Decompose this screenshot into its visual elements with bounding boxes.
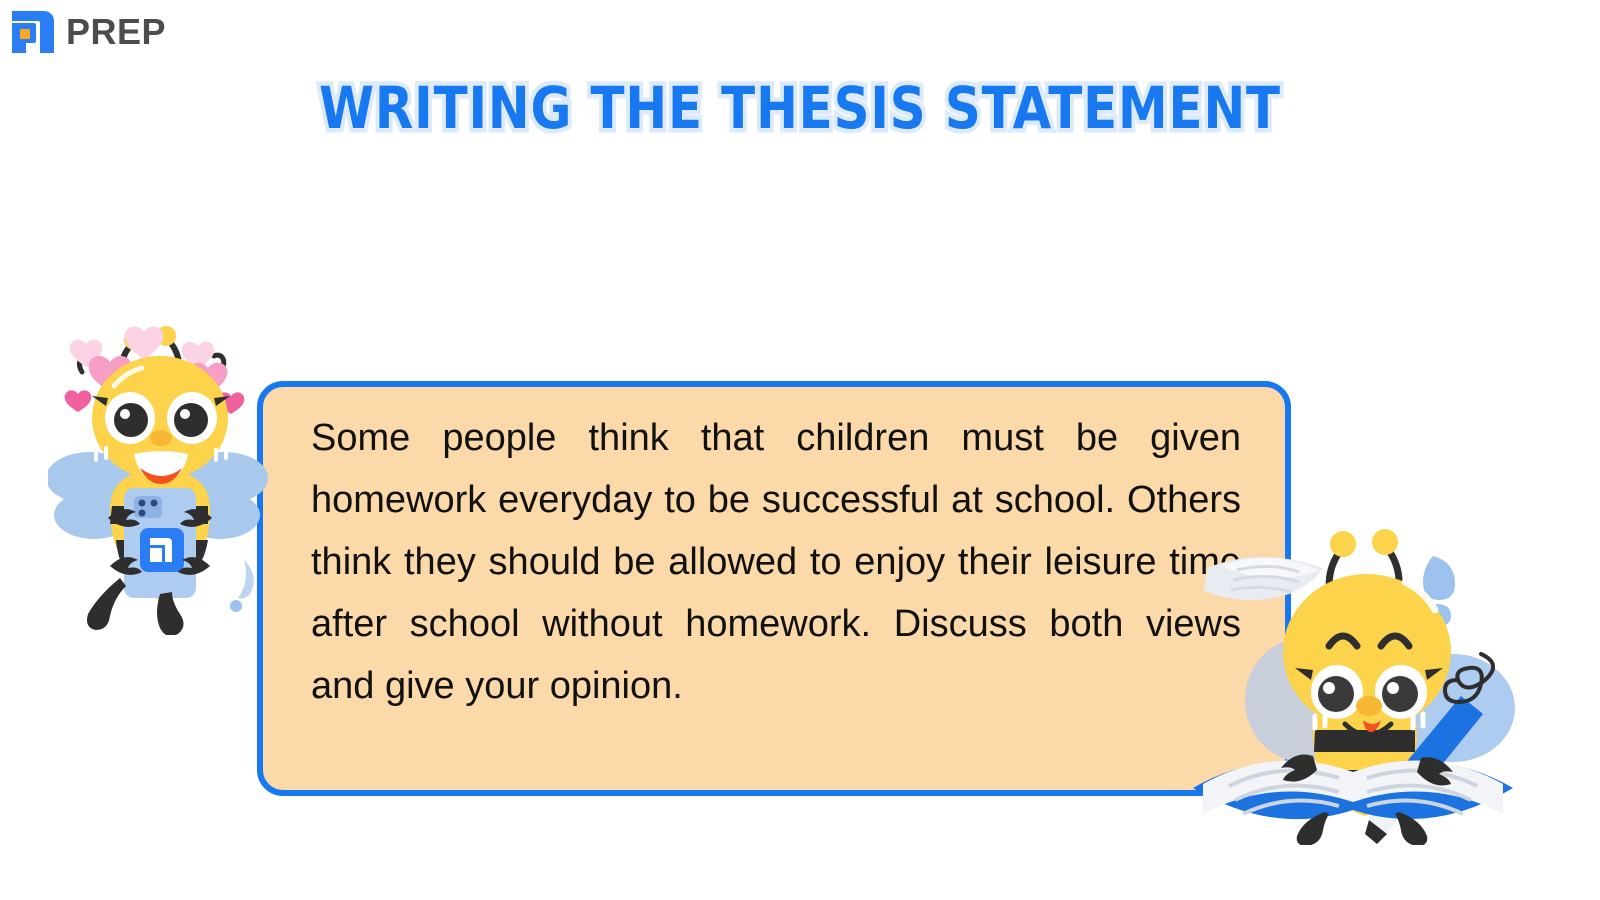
bee-writing-illustration: [1185, 520, 1525, 845]
brand-wordmark: PREP: [66, 14, 166, 50]
bee-with-phone-icon: [48, 310, 298, 635]
bee-writing-icon: [1185, 520, 1525, 845]
page-title: WRITING THE THESIS STATEMENT: [112, 74, 1488, 142]
prompt-text: Some people think that children must be …: [311, 407, 1241, 717]
prompt-card: Some people think that children must be …: [257, 381, 1291, 796]
brand-logo: PREP: [10, 6, 166, 58]
bee-with-phone-illustration: [48, 310, 298, 635]
prep-logo-icon: [10, 9, 56, 55]
